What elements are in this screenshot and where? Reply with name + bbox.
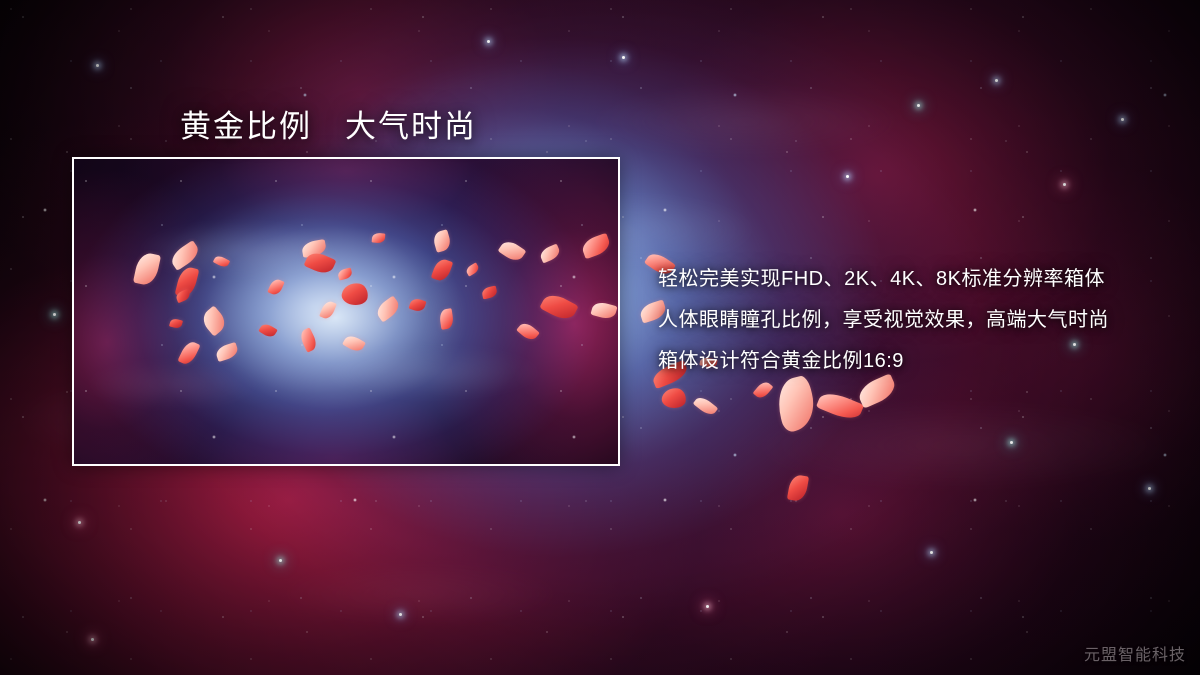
nebula-photo-frame[interactable]: [72, 157, 620, 466]
brand-watermark: 元盟智能科技: [1084, 641, 1186, 665]
body-line-2: 人体眼睛瞳孔比例，享受视觉效果，高端大气时尚: [658, 300, 1109, 341]
body-line-1: 轻松完美实现FHD、2K、4K、8K标准分辨率箱体: [658, 259, 1109, 300]
body-text-block: 轻松完美实现FHD、2K、4K、8K标准分辨率箱体 人体眼睛瞳孔比例，享受视觉效…: [658, 259, 1109, 382]
presentation-slide: 黄金比例 大气时尚 轻松完美实现FHD、2K、4K、8K标准分辨率箱体 人体眼睛…: [0, 0, 1200, 675]
panel-starfield: [74, 159, 618, 464]
page-title: 黄金比例 大气时尚: [180, 101, 477, 146]
body-line-3: 箱体设计符合黄金比例16:9: [658, 341, 1109, 382]
